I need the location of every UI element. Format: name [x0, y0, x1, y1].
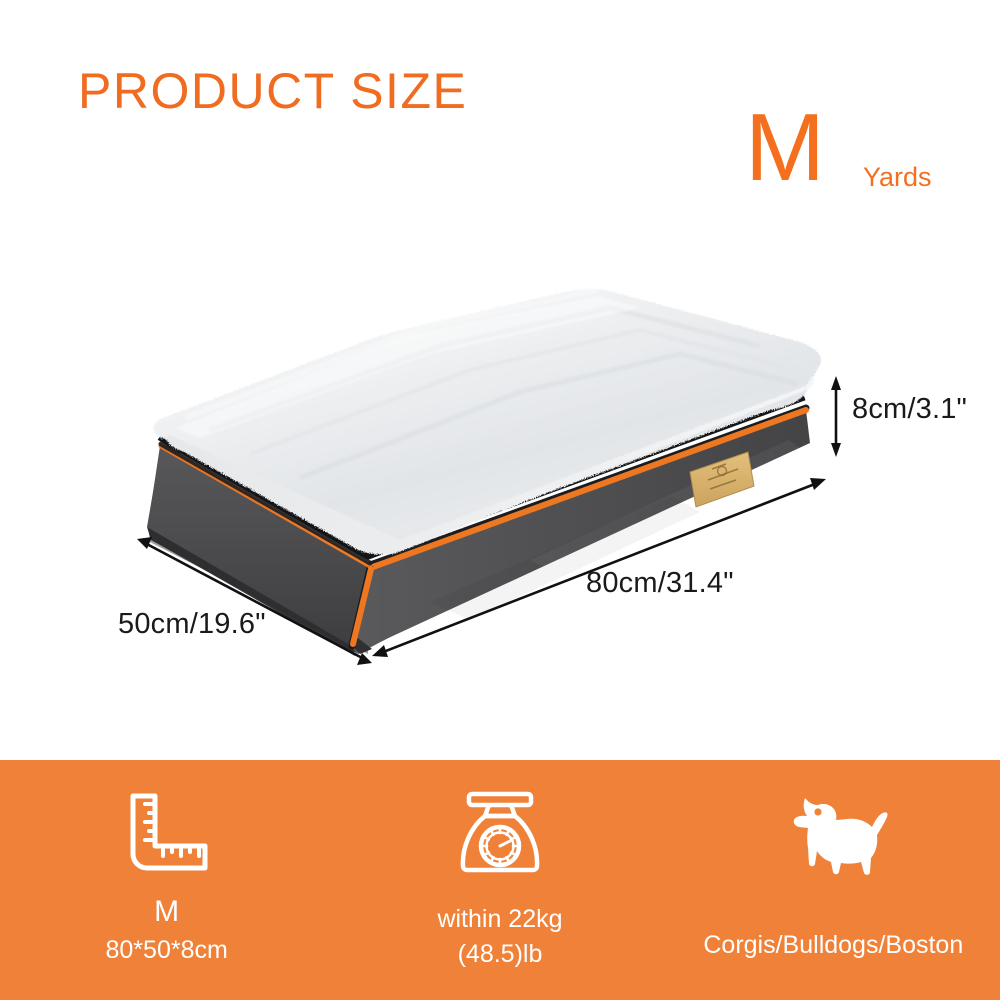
spec-breeds-label: Corgis/Bulldogs/Boston	[703, 930, 963, 961]
spec-size-dimensions: 80*50*8cm	[106, 935, 228, 966]
spec-footer-bar: M 80*50*8cm	[0, 760, 1000, 1000]
dog-icon	[773, 786, 893, 882]
spec-size-label: M	[154, 894, 179, 931]
bent-ruler-icon	[119, 786, 215, 882]
dimension-label-height: 8cm/3.1"	[852, 393, 967, 426]
dimension-label-depth: 50cm/19.6"	[118, 608, 266, 641]
dimension-label-length: 80cm/31.4"	[586, 567, 734, 600]
size-badge: M Yards	[745, 100, 955, 210]
spec-cell-size: M 80*50*8cm	[17, 760, 317, 965]
kitchen-scale-icon	[452, 786, 548, 882]
product-illustration	[0, 250, 1000, 720]
size-badge-letter: M	[745, 100, 823, 196]
size-badge-unit: Yards	[863, 162, 932, 193]
spec-cell-weight: within 22kg (48.5)lb	[350, 760, 650, 969]
spec-weight-lb: (48.5)lb	[458, 939, 543, 970]
page-title: PRODUCT SIZE	[78, 62, 467, 120]
spec-weight-kg: within 22kg	[437, 904, 562, 935]
spec-cell-breeds: Corgis/Bulldogs/Boston	[683, 760, 983, 961]
